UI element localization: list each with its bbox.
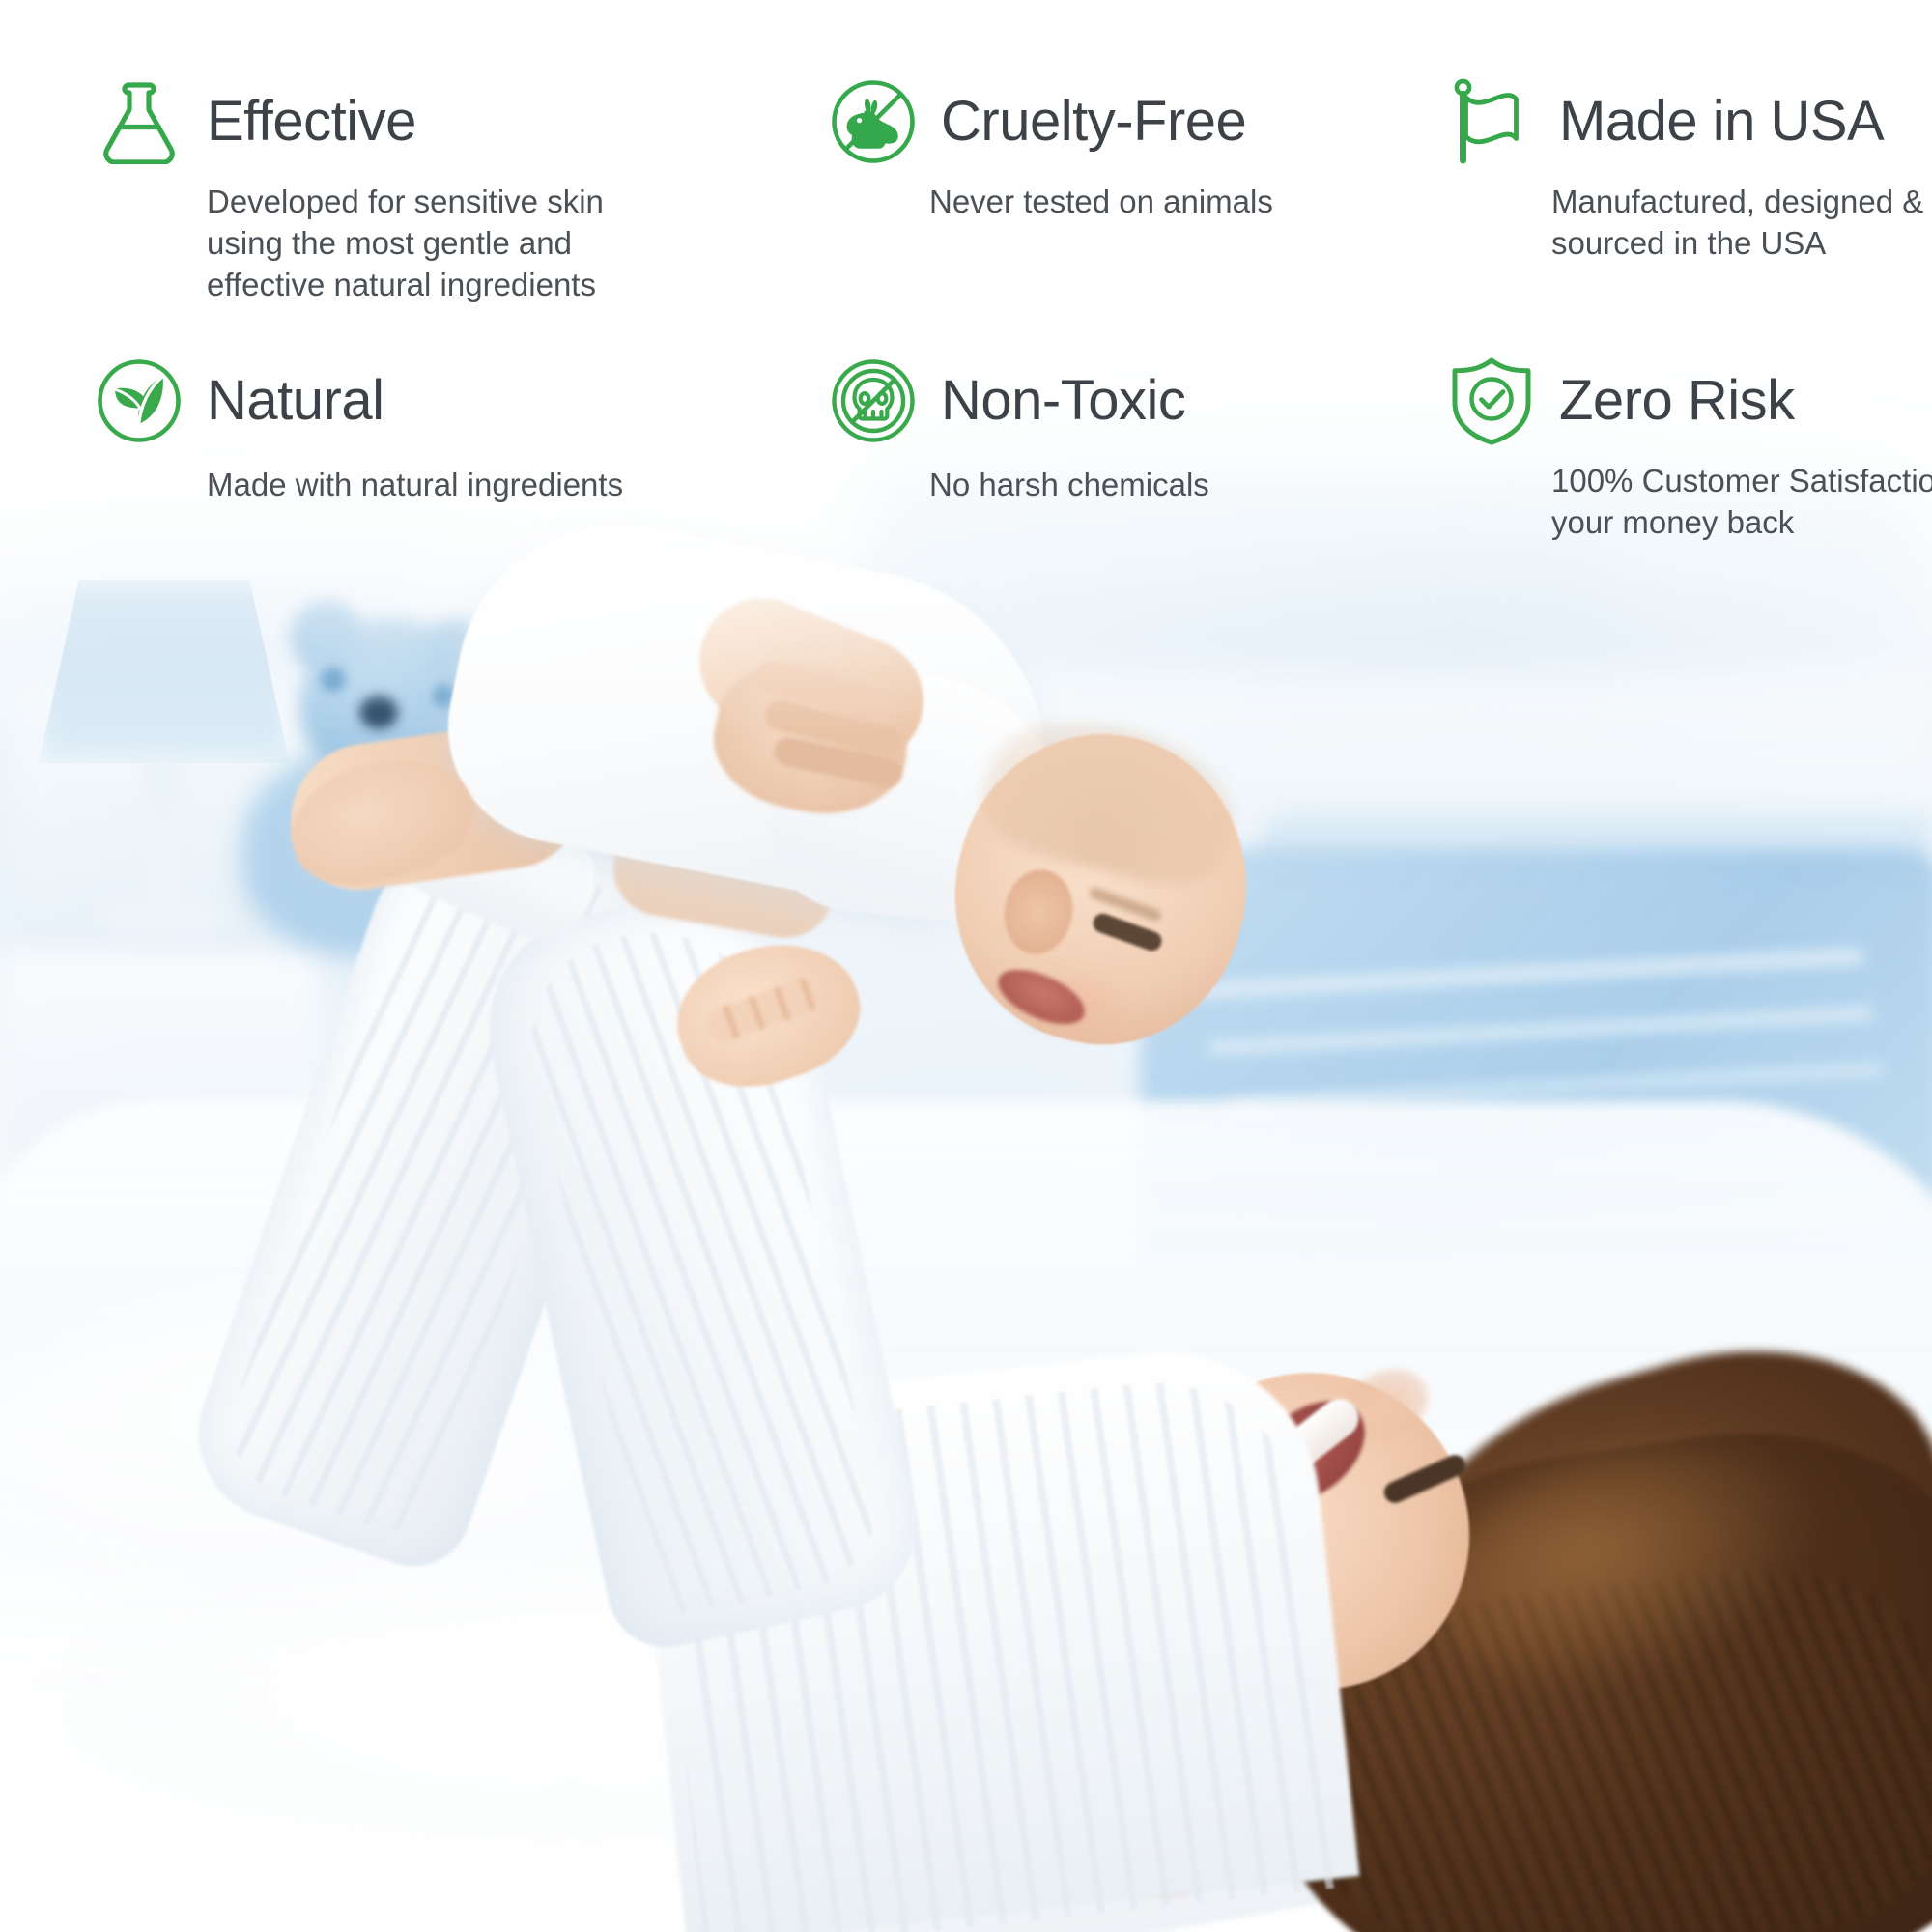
feature-heading-row: Non-Toxic: [827, 355, 1416, 447]
feature-heading-row: Cruelty-Free: [827, 75, 1416, 168]
leaves-icon: [93, 355, 185, 447]
feature-title: Natural: [207, 372, 384, 429]
feature-title: Effective: [207, 93, 416, 150]
shield-check-icon: [1445, 355, 1538, 447]
feature-title: Cruelty-Free: [941, 93, 1246, 150]
feature-heading-row: Effective: [93, 75, 798, 168]
feature-zero-risk: Zero Risk 100% Customer Satisfaction or …: [1445, 355, 1932, 544]
feature-title: Zero Risk: [1559, 372, 1795, 429]
feature-title: Made in USA: [1559, 93, 1884, 150]
feature-made-in-usa: Made in USA Manufactured, designed & sou…: [1445, 75, 1932, 306]
feature-title: Non-Toxic: [941, 372, 1185, 429]
flask-icon: [93, 75, 185, 168]
feature-natural: Natural Made with natural ingredients: [93, 355, 827, 544]
lamp-stem: [150, 753, 175, 908]
feature-benefits-grid: Effective Developed for sensitive skin u…: [0, 0, 1932, 543]
feature-description: Developed for sensitive skin using the m…: [207, 182, 651, 306]
feature-description: Never tested on animals: [929, 182, 1374, 223]
feature-description: Made with natural ingredients: [207, 465, 651, 506]
flag-icon: [1445, 75, 1538, 168]
lamp-base: [92, 898, 237, 939]
feature-heading-row: Made in USA: [1445, 75, 1932, 168]
feature-description: No harsh chemicals: [929, 465, 1374, 506]
feature-heading-row: Natural: [93, 355, 798, 447]
feature-non-toxic: Non-Toxic No harsh chemicals: [827, 355, 1445, 544]
feature-effective: Effective Developed for sensitive skin u…: [93, 75, 827, 306]
feature-description: 100% Customer Satisfaction or your money…: [1551, 461, 1932, 544]
no-rabbit-icon: [827, 75, 920, 168]
no-skull-icon: [827, 355, 920, 447]
feature-cruelty-free: Cruelty-Free Never tested on animals: [827, 75, 1445, 306]
feature-description: Manufactured, designed & sourced in the …: [1551, 182, 1932, 265]
feature-heading-row: Zero Risk: [1445, 355, 1932, 447]
